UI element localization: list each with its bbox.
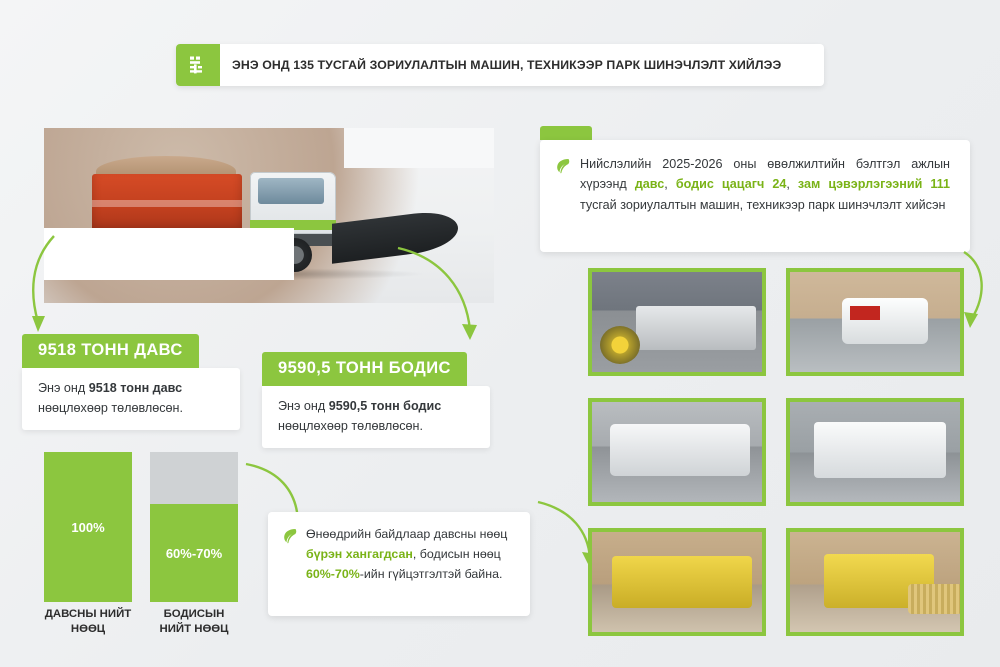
bar-column-salt: 100% ДАВСНЫ НИЙТ НӨӨЦ (44, 452, 132, 602)
infographic-canvas: ЭНЭ ОНД 135 ТУСГАЙ ЗОРИУЛАЛТЫН МАШИН, ТЕ… (0, 0, 1000, 667)
arrow-hero-to-sand (396, 246, 496, 350)
callout-reserve-status: Өнөөдрийн байдлаар давсны нөөц бүрэн хан… (268, 512, 530, 616)
bar-fill-salt: 100% (44, 452, 132, 602)
photo-loader-with-brush (786, 528, 964, 636)
bar-value-label-sand: 60%-70% (166, 546, 222, 561)
stat-card-sand: 9590,5 ТОНН БОДИС Энэ онд 9590,5 тонн бо… (262, 352, 490, 448)
ulaanbaatar-city-logo-icon (176, 44, 220, 86)
stat-card-salt: 9518 ТОНН ДАВС Энэ онд 9518 тонн давс нө… (22, 334, 240, 430)
stat-card-sand-heading: 9590,5 ТОНН БОДИС (262, 352, 467, 386)
bar-category-label-salt: ДАВСНЫ НИЙТ НӨӨЦ (44, 607, 132, 638)
bar-fill-sand: 60%-70% (150, 504, 238, 602)
photo-sweeper-truck-yellow (588, 268, 766, 376)
machinery-photo-grid (588, 268, 972, 640)
callout-park-renewal: Нийслэлийн 2025-2026 оны өвөлжилтийн бэл… (540, 140, 970, 252)
page-title: ЭНЭ ОНД 135 ТУСГАЙ ЗОРИУЛАЛТЫН МАШИН, ТЕ… (220, 58, 791, 72)
reserve-bar-chart: 100% ДАВСНЫ НИЙТ НӨӨЦ 60%-70% БОДИСЫН НИ… (44, 452, 244, 637)
rich-text-slot: Энэ онд 9590,5 тонн бодис нөөцлөхөөр төл… (278, 399, 441, 433)
bar-column-sand: 60%-70% БОДИСЫН НИЙТ НӨӨЦ (150, 452, 238, 602)
photo-sweeper-truck-white (588, 398, 766, 506)
bar-category-label-sand: БОДИСЫН НИЙТ НӨӨЦ (150, 607, 238, 638)
stat-card-salt-body: Энэ онд 9518 тонн давс нөөцлөхөөр төлөвл… (22, 368, 240, 430)
photo-wheel-loaders-row (588, 528, 766, 636)
chart-bars: 100% ДАВСНЫ НИЙТ НӨӨЦ 60%-70% БОДИСЫН НИ… (44, 452, 244, 602)
callout-right-tab (540, 126, 592, 140)
rich-text-slot: Өнөөдрийн байдлаар давсны нөөц бүрэн хан… (306, 527, 507, 581)
stat-card-sand-body: Энэ онд 9590,5 тонн бодис нөөцлөхөөр төл… (262, 386, 490, 448)
callout-park-renewal-text: Нийслэлийн 2025-2026 оны өвөлжилтийн бэл… (580, 154, 950, 215)
header-bar: ЭНЭ ОНД 135 ТУСГАЙ ЗОРИУЛАЛТЫН МАШИН, ТЕ… (176, 44, 824, 86)
rich-text-slot: Нийслэлийн 2025-2026 оны өвөлжилтийн бэл… (580, 157, 950, 212)
arrow-hero-to-salt (24, 236, 104, 342)
photo-compact-street-sweeper (786, 268, 964, 376)
leaf-bullet-icon (283, 528, 297, 544)
rich-text-slot: Энэ онд 9518 тонн давс нөөцлөхөөр төлөвл… (38, 381, 183, 415)
photo-sweeper-truck-side (786, 398, 964, 506)
stat-card-salt-heading: 9518 ТОНН ДАВС (22, 334, 199, 368)
callout-reserve-status-text: Өнөөдрийн байдлаар давсны нөөц бүрэн хан… (306, 524, 516, 584)
bar-value-label-salt: 100% (71, 520, 104, 535)
leaf-bullet-icon (556, 158, 570, 174)
